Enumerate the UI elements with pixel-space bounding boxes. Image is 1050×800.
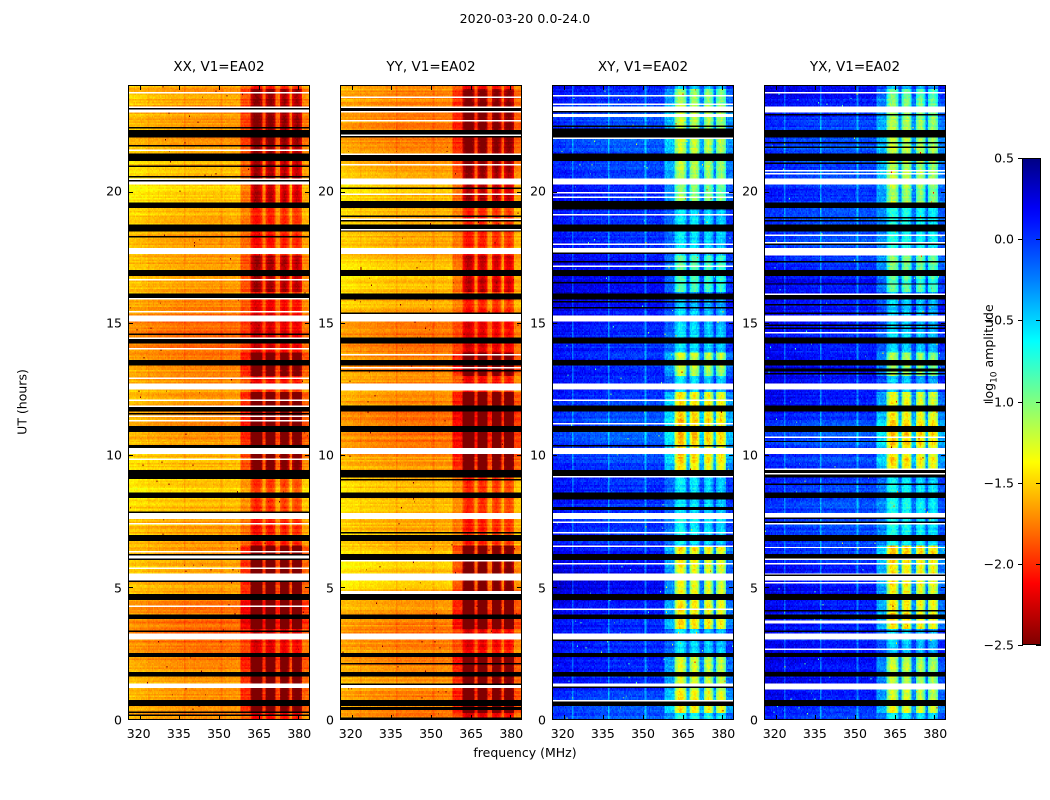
x-tick bbox=[352, 715, 353, 719]
x-tick bbox=[815, 715, 816, 719]
y-tick-right bbox=[517, 455, 521, 456]
x-tick bbox=[776, 715, 777, 719]
x-tick-top bbox=[179, 86, 180, 90]
x-tick-top bbox=[815, 86, 816, 90]
y-tick bbox=[553, 192, 557, 193]
y-tick-right bbox=[729, 323, 733, 324]
x-tick-top bbox=[603, 86, 604, 90]
colorbar-tick-inner bbox=[1036, 483, 1041, 484]
axes-xx[interactable] bbox=[128, 85, 310, 720]
y-tick-label: 0 bbox=[538, 713, 546, 728]
colorbar-tick bbox=[1018, 320, 1023, 321]
y-tick bbox=[765, 719, 769, 720]
colorbar-tick-inner bbox=[1036, 239, 1041, 240]
x-tick bbox=[683, 715, 684, 719]
panel-xy[interactable]: XY, V1=EA0232033535036538005101520 bbox=[552, 85, 734, 720]
x-tick-top bbox=[431, 86, 432, 90]
y-tick-right bbox=[941, 455, 945, 456]
x-tick-label: 380 bbox=[923, 726, 947, 741]
y-tick-right bbox=[941, 192, 945, 193]
y-tick-label: 20 bbox=[742, 183, 758, 198]
y-axis-label: UT (hours) bbox=[15, 369, 30, 435]
y-tick-label: 0 bbox=[750, 713, 758, 728]
x-tick-top bbox=[140, 86, 141, 90]
x-tick bbox=[855, 715, 856, 719]
x-tick-top bbox=[352, 86, 353, 90]
x-tick-label: 350 bbox=[207, 726, 231, 741]
colorbar-tick-inner bbox=[1036, 645, 1041, 646]
x-tick-label: 365 bbox=[671, 726, 695, 741]
x-tick-top bbox=[643, 86, 644, 90]
panel-title-xx: XX, V1=EA02 bbox=[128, 59, 310, 75]
x-tick-label: 335 bbox=[379, 726, 403, 741]
x-tick bbox=[510, 715, 511, 719]
x-tick-top bbox=[934, 86, 935, 90]
y-tick-right bbox=[517, 719, 521, 720]
x-tick bbox=[471, 715, 472, 719]
waterfall-image-yy bbox=[341, 86, 521, 719]
y-tick-right bbox=[729, 719, 733, 720]
axes-yy[interactable] bbox=[340, 85, 522, 720]
colorbar-tick-label: 0.5 bbox=[994, 151, 1014, 166]
x-tick bbox=[219, 715, 220, 719]
y-tick-right bbox=[305, 192, 309, 193]
y-tick-label: 10 bbox=[530, 448, 546, 463]
y-tick bbox=[553, 455, 557, 456]
panel-yx[interactable]: YX, V1=EA0232033535036538005101520 bbox=[764, 85, 946, 720]
colorbar-tick-label: −2.0 bbox=[984, 556, 1014, 571]
x-tick-top bbox=[895, 86, 896, 90]
x-tick-label: 365 bbox=[459, 726, 483, 741]
colorbar-tick-label: 0.0 bbox=[994, 232, 1014, 247]
colorbar-tick-inner bbox=[1036, 320, 1041, 321]
colorbar-tick bbox=[1018, 564, 1023, 565]
x-tick-label: 350 bbox=[419, 726, 443, 741]
y-tick-label: 5 bbox=[750, 580, 758, 595]
y-tick-label: 5 bbox=[326, 580, 334, 595]
x-tick bbox=[934, 715, 935, 719]
panel-title-xy: XY, V1=EA02 bbox=[552, 59, 734, 75]
panel-yy[interactable]: YY, V1=EA0232033535036538005101520 bbox=[340, 85, 522, 720]
y-tick bbox=[341, 192, 345, 193]
y-tick-label: 5 bbox=[114, 580, 122, 595]
y-tick bbox=[553, 323, 557, 324]
x-tick-label: 350 bbox=[843, 726, 867, 741]
x-tick bbox=[140, 715, 141, 719]
panel-xx[interactable]: XX, V1=EA0232033535036538005101520 bbox=[128, 85, 310, 720]
colorbar-tick bbox=[1018, 239, 1023, 240]
y-tick-label: 0 bbox=[114, 713, 122, 728]
x-tick-top bbox=[855, 86, 856, 90]
y-tick-label: 15 bbox=[530, 316, 546, 331]
waterfall-image-xx bbox=[129, 86, 309, 719]
x-tick-label: 335 bbox=[803, 726, 827, 741]
x-tick bbox=[603, 715, 604, 719]
y-tick-right bbox=[305, 587, 309, 588]
colorbar-tick-inner bbox=[1036, 564, 1041, 565]
y-tick-label: 15 bbox=[106, 316, 122, 331]
y-tick-label: 10 bbox=[318, 448, 334, 463]
y-tick-right bbox=[305, 323, 309, 324]
x-axis-label: frequency (MHz) bbox=[0, 745, 1050, 760]
y-tick bbox=[341, 719, 345, 720]
panel-title-yx: YX, V1=EA02 bbox=[764, 59, 946, 75]
y-tick-right bbox=[729, 455, 733, 456]
x-tick-label: 335 bbox=[167, 726, 191, 741]
x-tick-top bbox=[683, 86, 684, 90]
x-tick-top bbox=[564, 86, 565, 90]
figure-suptitle: 2020-03-20 0.0-24.0 bbox=[0, 11, 1050, 26]
x-tick bbox=[259, 715, 260, 719]
x-tick-top bbox=[722, 86, 723, 90]
y-tick bbox=[129, 455, 133, 456]
y-tick-right bbox=[305, 719, 309, 720]
colorbar-tick bbox=[1018, 483, 1023, 484]
colorbar-tick bbox=[1018, 645, 1023, 646]
y-tick-right bbox=[517, 587, 521, 588]
x-tick bbox=[298, 715, 299, 719]
panel-title-yy: YY, V1=EA02 bbox=[340, 59, 522, 75]
x-tick bbox=[391, 715, 392, 719]
x-tick bbox=[179, 715, 180, 719]
y-tick bbox=[765, 587, 769, 588]
y-tick-right bbox=[729, 192, 733, 193]
waterfall-image-yx bbox=[765, 86, 945, 719]
y-tick bbox=[341, 323, 345, 324]
colorbar-tick bbox=[1018, 402, 1023, 403]
x-tick-top bbox=[298, 86, 299, 90]
x-tick-label: 380 bbox=[287, 726, 311, 741]
colorbar-tick-inner bbox=[1036, 158, 1041, 159]
y-tick-right bbox=[517, 192, 521, 193]
y-tick-label: 0 bbox=[326, 713, 334, 728]
y-tick bbox=[129, 719, 133, 720]
y-tick bbox=[765, 455, 769, 456]
x-tick-label: 320 bbox=[339, 726, 363, 741]
figure-canvas: 2020-03-20 0.0-24.0 UT (hours) frequency… bbox=[0, 0, 1050, 800]
x-tick-label: 350 bbox=[631, 726, 655, 741]
y-tick-label: 20 bbox=[530, 183, 546, 198]
y-tick bbox=[129, 323, 133, 324]
y-tick-right bbox=[941, 587, 945, 588]
y-tick-label: 10 bbox=[106, 448, 122, 463]
colorbar-label: log10 amplitude bbox=[981, 304, 1000, 402]
colorbar-tick bbox=[1018, 158, 1023, 159]
y-tick-label: 10 bbox=[742, 448, 758, 463]
y-tick-right bbox=[305, 455, 309, 456]
colorbar-tick-inner bbox=[1036, 402, 1041, 403]
y-tick-right bbox=[941, 719, 945, 720]
x-tick-label: 320 bbox=[551, 726, 575, 741]
y-tick-label: 20 bbox=[318, 183, 334, 198]
x-tick-label: 335 bbox=[591, 726, 615, 741]
y-tick bbox=[553, 587, 557, 588]
y-tick-right bbox=[729, 587, 733, 588]
x-tick bbox=[431, 715, 432, 719]
y-tick bbox=[765, 192, 769, 193]
y-tick bbox=[553, 719, 557, 720]
x-tick bbox=[643, 715, 644, 719]
x-tick-label: 380 bbox=[711, 726, 735, 741]
y-tick-label: 20 bbox=[106, 183, 122, 198]
x-tick-top bbox=[510, 86, 511, 90]
axes-yx[interactable] bbox=[764, 85, 946, 720]
y-tick bbox=[129, 587, 133, 588]
x-tick bbox=[564, 715, 565, 719]
y-tick-right bbox=[517, 323, 521, 324]
y-tick bbox=[129, 192, 133, 193]
y-tick-label: 15 bbox=[318, 316, 334, 331]
x-tick-label: 365 bbox=[883, 726, 907, 741]
x-tick-label: 380 bbox=[499, 726, 523, 741]
x-tick bbox=[895, 715, 896, 719]
x-tick-top bbox=[471, 86, 472, 90]
waterfall-image-xy bbox=[553, 86, 733, 719]
x-tick-label: 365 bbox=[247, 726, 271, 741]
y-tick-label: 15 bbox=[742, 316, 758, 331]
y-tick-right bbox=[941, 323, 945, 324]
x-tick bbox=[722, 715, 723, 719]
colorbar-tick-label: −1.5 bbox=[984, 475, 1014, 490]
colorbar-tick-label: −2.5 bbox=[984, 638, 1014, 653]
x-tick-top bbox=[776, 86, 777, 90]
axes-xy[interactable] bbox=[552, 85, 734, 720]
y-tick bbox=[341, 455, 345, 456]
x-tick-label: 320 bbox=[127, 726, 151, 741]
y-tick bbox=[341, 587, 345, 588]
y-tick bbox=[765, 323, 769, 324]
y-tick-label: 5 bbox=[538, 580, 546, 595]
x-tick-top bbox=[391, 86, 392, 90]
x-tick-top bbox=[259, 86, 260, 90]
x-tick-label: 320 bbox=[763, 726, 787, 741]
x-tick-top bbox=[219, 86, 220, 90]
